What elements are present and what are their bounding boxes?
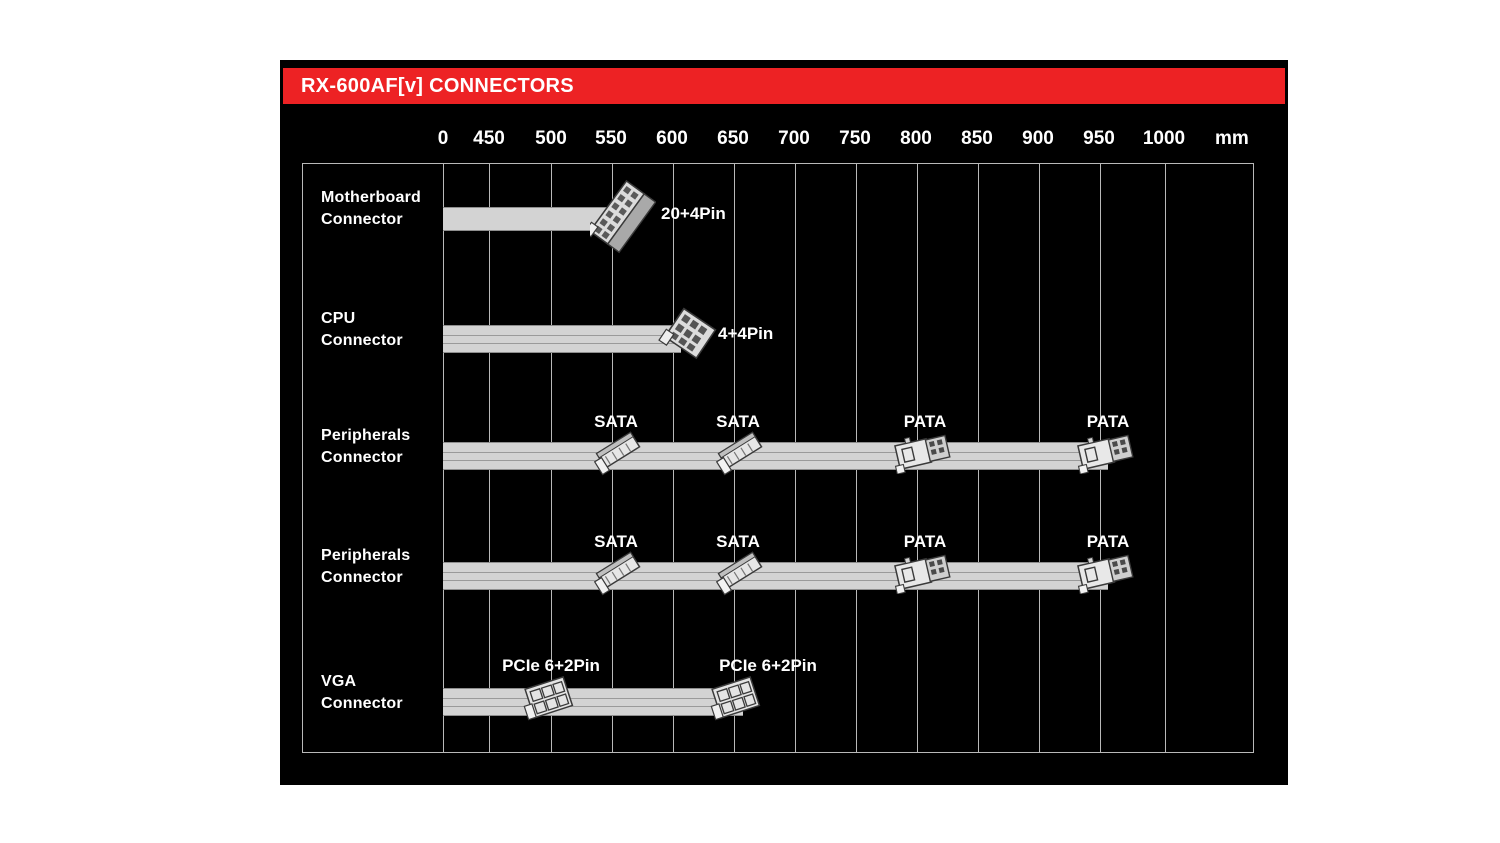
connector-label-4-4pin: 4+4Pin <box>718 324 773 344</box>
axis-tick-900: 900 <box>1022 128 1054 150</box>
connector-pata-2b <box>1074 550 1136 594</box>
connector-sata-2b <box>713 548 767 596</box>
title-banner: RX-600AF[v] CONNECTORS <box>283 68 1285 104</box>
row-peripherals-connector-2: Peripherals Connector SATA <box>303 522 1253 602</box>
connector-sata-1a <box>591 428 645 476</box>
page-title: RX-600AF[v] CONNECTORS <box>283 75 574 98</box>
axis-unit-label: mm <box>1215 128 1249 150</box>
axis-tick-750: 750 <box>839 128 871 150</box>
row-cpu-connector: CPU Connector <box>303 292 1253 372</box>
axis-tick-650: 650 <box>717 128 749 150</box>
connector-label-pata-2b: PATA <box>1087 532 1130 552</box>
axis-tick-800: 800 <box>900 128 932 150</box>
row-vga-connector: VGA Connector PCIe 6+2Pin <box>303 646 1253 726</box>
axis-tick-450: 450 <box>473 128 505 150</box>
connector-pata-2a <box>891 550 953 594</box>
connector-sata-2a <box>591 548 645 596</box>
connector-diagram-panel: RX-600AF[v] CONNECTORS 0 450 500 550 600… <box>280 60 1288 785</box>
axis-tick-500: 500 <box>535 128 567 150</box>
cable-cpu <box>443 325 681 353</box>
connector-atx-20-4pin <box>590 178 656 258</box>
measurement-axis: 0 450 500 550 600 650 700 750 800 850 90… <box>280 128 1288 156</box>
plot-area: Motherboard Connector <box>302 163 1254 753</box>
row-label-motherboard: Motherboard Connector <box>321 187 421 230</box>
axis-tick-700: 700 <box>778 128 810 150</box>
cable-vga <box>443 688 743 716</box>
connector-pata-1a <box>891 430 953 474</box>
row-label-peripherals-2: Peripherals Connector <box>321 545 410 588</box>
cable-peripherals-2 <box>443 562 1108 590</box>
axis-tick-600: 600 <box>656 128 688 150</box>
connector-label-pata-2a: PATA <box>904 532 947 552</box>
row-motherboard-connector: Motherboard Connector <box>303 172 1253 252</box>
connector-label-pata-1b: PATA <box>1087 412 1130 432</box>
connector-label-20-4pin: 20+4Pin <box>661 204 726 224</box>
axis-tick-950: 950 <box>1083 128 1115 150</box>
axis-tick-0: 0 <box>438 128 449 150</box>
connector-label-pata-1a: PATA <box>904 412 947 432</box>
row-label-vga: VGA Connector <box>321 671 403 714</box>
row-label-peripherals-1: Peripherals Connector <box>321 425 410 468</box>
connector-pata-1b <box>1074 430 1136 474</box>
axis-tick-550: 550 <box>595 128 627 150</box>
axis-tick-1000: 1000 <box>1143 128 1185 150</box>
row-label-cpu: CPU Connector <box>321 308 403 351</box>
connector-pcie-6-2pin-b <box>706 670 768 726</box>
cable-peripherals-1 <box>443 442 1108 470</box>
connector-pcie-6-2pin-a <box>519 670 581 726</box>
row-peripherals-connector-1: Peripherals Connector SATA <box>303 402 1253 482</box>
connector-sata-1b <box>713 428 767 476</box>
axis-tick-850: 850 <box>961 128 993 150</box>
connector-eps-4-4pin <box>658 300 720 370</box>
screenshot-canvas: RX-600AF[v] CONNECTORS 0 450 500 550 600… <box>0 0 1500 843</box>
